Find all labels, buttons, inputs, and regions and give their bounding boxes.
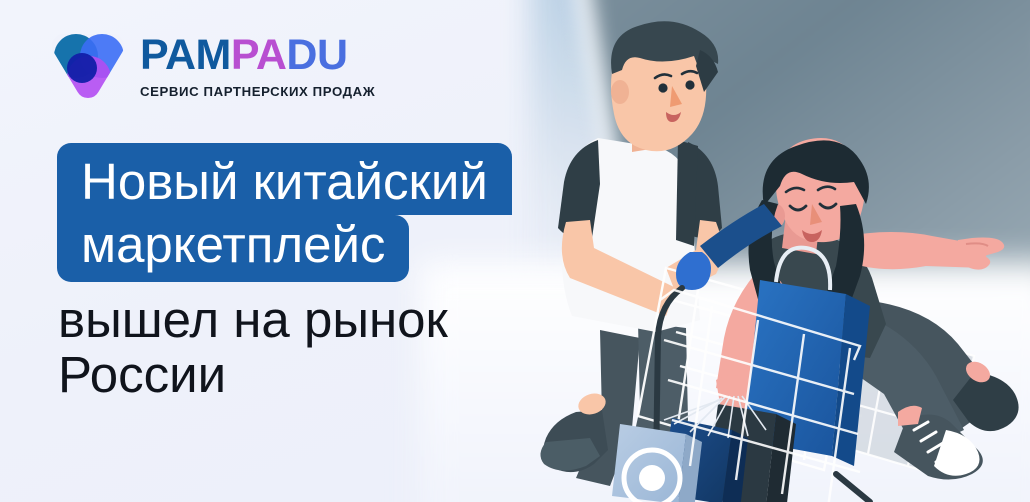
bag-logo-inner-dot xyxy=(639,465,665,491)
wordmark-part-3: DU xyxy=(286,34,347,77)
subheadline-line-2: России xyxy=(58,347,448,402)
headline-line-1: Новый китайский xyxy=(57,143,512,215)
man-ear xyxy=(611,80,629,104)
brand-logo-text: PAMPADU СЕРВИС ПАРТНЕРСКИХ ПРОДАЖ xyxy=(140,32,375,99)
pampadu-triangle-logo-icon xyxy=(52,30,124,100)
headline-block: Новый китайский маркетплейс xyxy=(57,143,512,282)
headline-rows: Новый китайский маркетплейс xyxy=(57,143,512,282)
brand-wordmark: PAMPADU xyxy=(140,34,375,77)
brand-logo[interactable]: PAMPADU СЕРВИС ПАРТНЕРСКИХ ПРОДАЖ xyxy=(52,30,375,100)
man-eye-right xyxy=(685,80,694,89)
promo-banner: PAMPADU СЕРВИС ПАРТНЕРСКИХ ПРОДАЖ Новый … xyxy=(0,0,1030,502)
brand-tagline: СЕРВИС ПАРТНЕРСКИХ ПРОДАЖ xyxy=(140,84,375,99)
cart-wheel-post xyxy=(836,474,870,502)
man-eye-left xyxy=(658,83,667,92)
headline-line-2: маркетплейс xyxy=(57,215,409,283)
subheadline-line-1: вышел на рынок xyxy=(58,292,448,347)
subheadline-block: вышел на рынок России xyxy=(58,292,448,402)
logo-circle-navy xyxy=(67,53,97,83)
wordmark-part-2: PA xyxy=(231,34,287,77)
wordmark-part-1: PAM xyxy=(140,34,231,77)
